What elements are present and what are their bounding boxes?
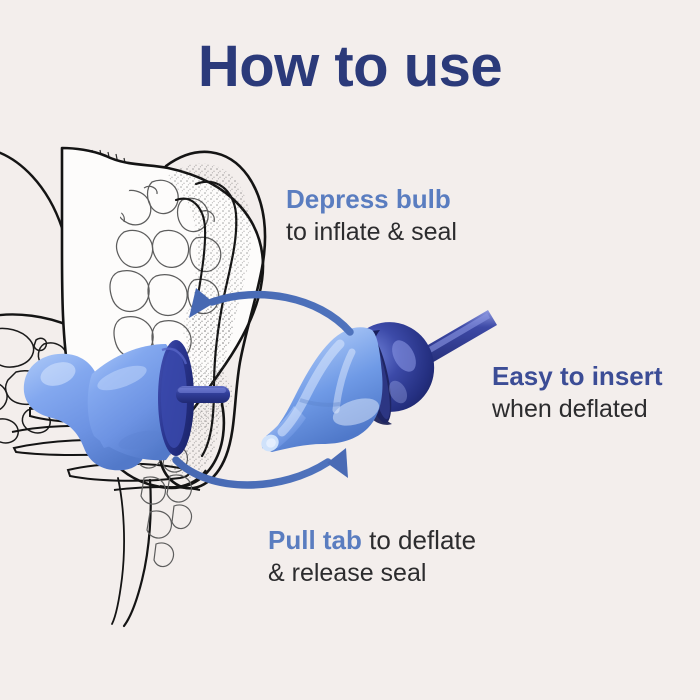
callout-depress-bulb: Depress bulb to inflate & seal (286, 183, 457, 249)
callout-depress-bulb-emphasis: Depress bulb (286, 184, 451, 214)
callout-easy-to-insert-bold: Easy to insert (492, 360, 663, 393)
callout-easy-to-insert: Easy to insert when deflated (492, 360, 663, 426)
deflated-ear-device (258, 309, 497, 455)
callout-pull-tab-line2: & release seal (268, 557, 476, 590)
callout-pull-tab: Pull tab to deflate & release seal (268, 524, 476, 590)
callout-pull-tab-emphasis: Pull tab (268, 525, 362, 555)
callout-pull-tab-inline: to deflate (362, 525, 476, 555)
callout-easy-to-insert-plain: when deflated (492, 393, 663, 426)
callout-depress-bulb-bold: Depress bulb (286, 183, 457, 216)
callout-pull-tab-line1: Pull tab to deflate (268, 524, 476, 557)
illustration-layer (0, 0, 700, 700)
callout-depress-bulb-plain: to inflate & seal (286, 216, 457, 249)
infographic-canvas: How to use (0, 0, 700, 700)
callout-easy-to-insert-emphasis: Easy to insert (492, 361, 663, 391)
